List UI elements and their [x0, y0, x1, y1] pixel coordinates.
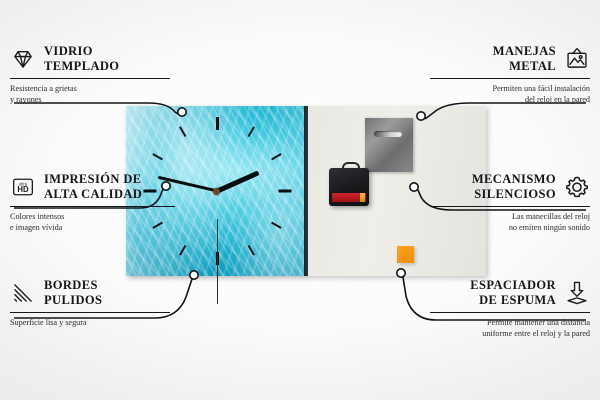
callout-rule	[10, 312, 170, 314]
movement-hanger-loop	[342, 162, 360, 173]
hanger-slot	[374, 131, 402, 137]
callout-impresion-alta-calidad: ultra HD IMPRESIÓN DE ALTA CALIDAD Color…	[10, 172, 175, 234]
clock-marker	[279, 190, 292, 193]
callout-desc: Permiten una fácil instalación del reloj…	[430, 83, 590, 106]
callout-desc: Resistencia a grietas y rayones	[10, 83, 170, 106]
diamond-icon	[10, 46, 36, 72]
clock-marker	[216, 117, 219, 130]
callout-title: MECANISMO SILENCIOSO	[472, 172, 556, 202]
callout-rule	[430, 312, 590, 314]
ultra-hd-icon: ultra HD	[10, 174, 36, 200]
callout-desc: Superficie lisa y segura	[10, 317, 170, 328]
callout-espaciador-de-espuma: ESPACIADOR DE ESPUMA Permite mantener un…	[430, 278, 590, 340]
callout-vidrio-templado: VIDRIO TEMPLADO Resistencia a grietas y …	[10, 44, 170, 106]
wall-hanger-plate	[365, 118, 413, 172]
callout-rule	[430, 78, 590, 80]
product-infographic: VIDRIO TEMPLADO Resistencia a grietas y …	[0, 0, 600, 400]
callout-title: ESPACIADOR DE ESPUMA	[470, 278, 556, 308]
clock-second-hand	[217, 219, 218, 304]
callout-desc: Colores intensos e imagen vívida	[10, 211, 175, 234]
svg-text:HD: HD	[17, 185, 29, 194]
gear-icon	[564, 174, 590, 200]
foam-spacer-icon	[564, 280, 590, 306]
callout-title: VIDRIO TEMPLADO	[44, 44, 119, 74]
callout-manejas-metal: MANEJAS METAL Permiten una fácil instala…	[430, 44, 590, 106]
callout-mecanismo-silencioso: MECANISMO SILENCIOSO Las manecillas del …	[430, 172, 590, 234]
callout-rule	[430, 206, 590, 208]
callout-title: IMPRESIÓN DE ALTA CALIDAD	[44, 172, 142, 202]
clock-movement	[329, 168, 369, 206]
callout-rule	[10, 78, 170, 80]
callout-bordes-pulidos: BORDES PULIDOS Superficie lisa y segura	[10, 278, 170, 328]
callout-desc: Las manecillas del reloj no emiten ningú…	[430, 211, 590, 234]
foam-spacer-part	[397, 246, 414, 263]
callout-desc: Permite mantener una distancia uniforme …	[430, 317, 590, 340]
polished-edges-icon	[10, 280, 36, 306]
callout-rule	[10, 206, 175, 208]
clock-center-cap	[213, 188, 220, 195]
callout-title: BORDES PULIDOS	[44, 278, 102, 308]
callout-title: MANEJAS METAL	[493, 44, 556, 74]
battery	[332, 193, 366, 202]
battery-tip	[360, 193, 365, 202]
wall-hanger-icon	[564, 46, 590, 72]
